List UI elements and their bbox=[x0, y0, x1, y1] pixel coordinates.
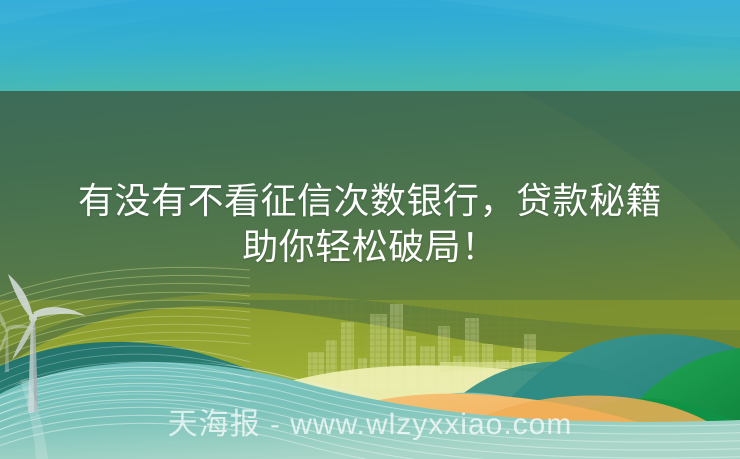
poster-canvas: 有没有不看征信次数银行，贷款秘籍 助你轻松破局！ 天海报 - www.wlzyx… bbox=[0, 0, 740, 459]
poster-artwork bbox=[0, 0, 740, 459]
sky-band bbox=[0, 0, 740, 92]
